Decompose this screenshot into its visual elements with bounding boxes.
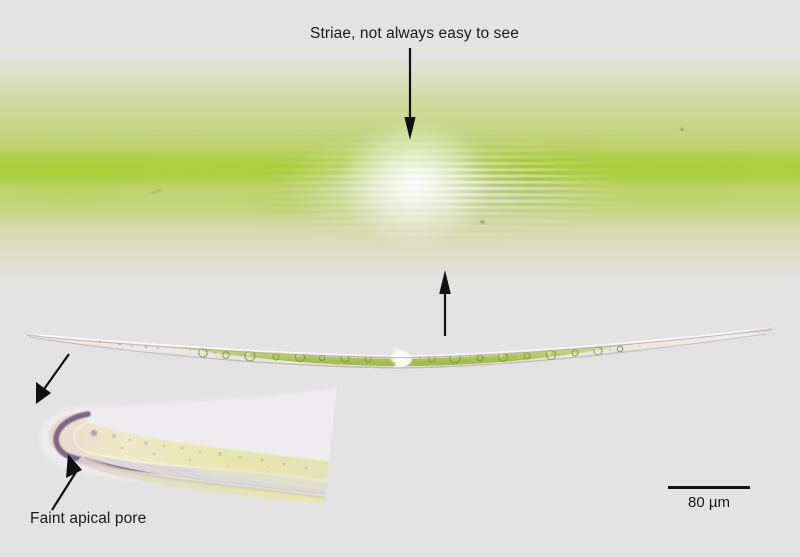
apical-pore-label: Faint apical pore [30,511,146,527]
scale-bar [668,486,750,489]
debris-speck [480,220,485,224]
apical-pore-arrow-upper-icon [26,352,76,406]
micrograph-canvas: Striae, not always easy to see [0,0,800,557]
debris-speck [680,128,684,131]
apical-pore-arrow-lower-icon [30,450,86,512]
scale-bar-label: 80 µm [668,494,750,511]
faint-apical-pore [91,430,97,436]
striae-arrow-top-icon [398,48,422,140]
striae-label: Striae, not always easy to see [310,26,519,42]
